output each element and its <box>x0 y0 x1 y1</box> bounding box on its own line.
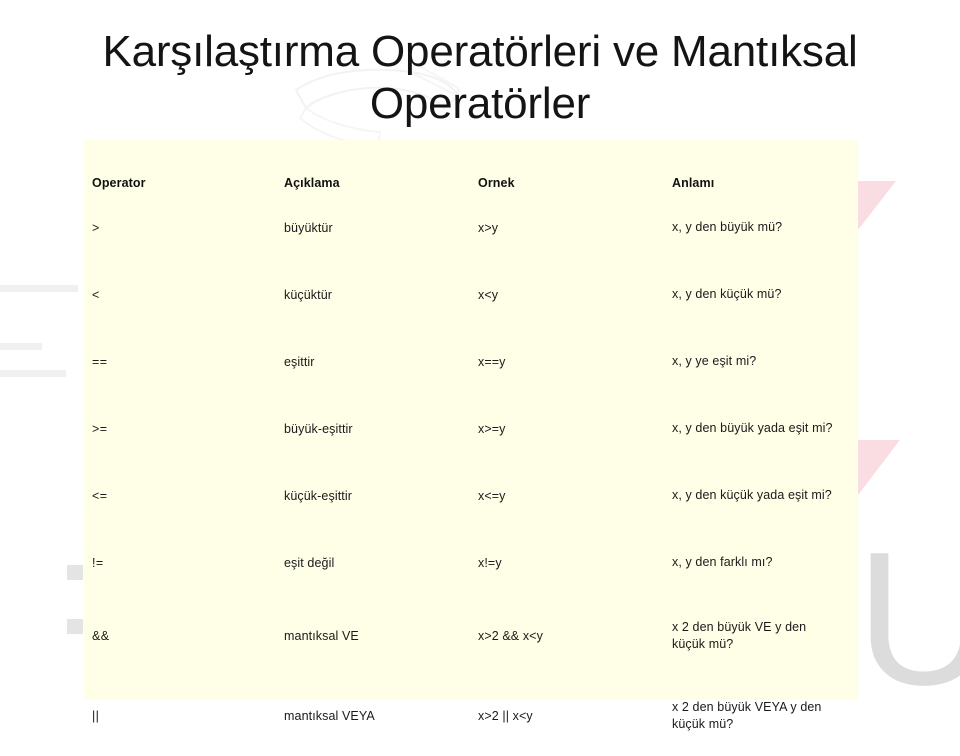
cell-anlami: x, y den farklı mı? <box>664 529 858 596</box>
cell-anlami: x, y den büyük mü? <box>664 194 858 261</box>
cell-operator: <= <box>84 462 276 529</box>
gray-bar-decoration <box>0 343 42 350</box>
table-header: Operator Açıklama Ornek Anlamı <box>84 140 858 194</box>
cell-aciklama: büyük-eşittir <box>276 395 470 462</box>
cell-aciklama: büyüktür <box>276 194 470 261</box>
table-body: > büyüktür x>y x, y den büyük mü? < küçü… <box>84 194 858 756</box>
cell-ornek: x==y <box>470 328 664 395</box>
page-title: Karşılaştırma Operatörleri ve Mantıksal … <box>0 26 960 130</box>
cell-aciklama: küçük-eşittir <box>276 462 470 529</box>
table-row: == eşittir x==y x, y ye eşit mi? <box>84 328 858 395</box>
gray-bar-decoration <box>0 370 66 377</box>
cell-ornek: x>2 || x<y <box>470 676 664 756</box>
cell-anlami: x, y ye eşit mi? <box>664 328 858 395</box>
table-row: || mantıksal VEYA x>2 || x<y x 2 den büy… <box>84 676 858 756</box>
cell-aciklama: mantıksal VEYA <box>276 676 470 756</box>
watermark-letter-u: U <box>856 524 960 714</box>
cell-ornek: x!=y <box>470 529 664 596</box>
cell-anlami: x, y den küçük yada eşit mi? <box>664 462 858 529</box>
slide-root: { "slide": { "title": "Karşılaştırma Ope… <box>0 0 960 720</box>
cell-operator: == <box>84 328 276 395</box>
cell-operator: && <box>84 596 276 676</box>
column-header-operator: Operator <box>84 140 276 194</box>
cell-operator: < <box>84 261 276 328</box>
cell-operator: || <box>84 676 276 756</box>
table-row: >= büyük-eşittir x>=y x, y den büyük yad… <box>84 395 858 462</box>
table-header-row: Operator Açıklama Ornek Anlamı <box>84 140 858 194</box>
cell-aciklama: küçüktür <box>276 261 470 328</box>
cell-ornek: x>y <box>470 194 664 261</box>
pink-triangle-decoration <box>858 440 900 495</box>
operator-table: Operator Açıklama Ornek Anlamı > büyüktü… <box>84 140 858 756</box>
table-row: != eşit değil x!=y x, y den farklı mı? <box>84 529 858 596</box>
cell-operator: > <box>84 194 276 261</box>
cell-aciklama: mantıksal VE <box>276 596 470 676</box>
cell-ornek: x<y <box>470 261 664 328</box>
cell-aciklama: eşittir <box>276 328 470 395</box>
cell-anlami: x 2 den büyük VEYA y den küçük mü? <box>664 676 858 756</box>
cell-operator: != <box>84 529 276 596</box>
operator-table-panel: Operator Açıklama Ornek Anlamı > büyüktü… <box>84 140 858 700</box>
gray-square-decoration <box>67 619 83 634</box>
gray-bar-decoration <box>0 285 78 292</box>
cell-aciklama: eşit değil <box>276 529 470 596</box>
table-row: > büyüktür x>y x, y den büyük mü? <box>84 194 858 261</box>
cell-operator: >= <box>84 395 276 462</box>
cell-ornek: x>=y <box>470 395 664 462</box>
table-row: <= küçük-eşittir x<=y x, y den küçük yad… <box>84 462 858 529</box>
pink-triangle-decoration <box>858 181 896 230</box>
table-row: < küçüktür x<y x, y den küçük mü? <box>84 261 858 328</box>
table-row: && mantıksal VE x>2 && x<y x 2 den büyük… <box>84 596 858 676</box>
cell-anlami: x, y den büyük yada eşit mi? <box>664 395 858 462</box>
cell-ornek: x<=y <box>470 462 664 529</box>
cell-anlami: x, y den küçük mü? <box>664 261 858 328</box>
cell-ornek: x>2 && x<y <box>470 596 664 676</box>
column-header-aciklama: Açıklama <box>276 140 470 194</box>
column-header-ornek: Ornek <box>470 140 664 194</box>
column-header-anlami: Anlamı <box>664 140 858 194</box>
gray-square-decoration <box>67 565 83 580</box>
cell-anlami: x 2 den büyük VE y den küçük mü? <box>664 596 858 676</box>
